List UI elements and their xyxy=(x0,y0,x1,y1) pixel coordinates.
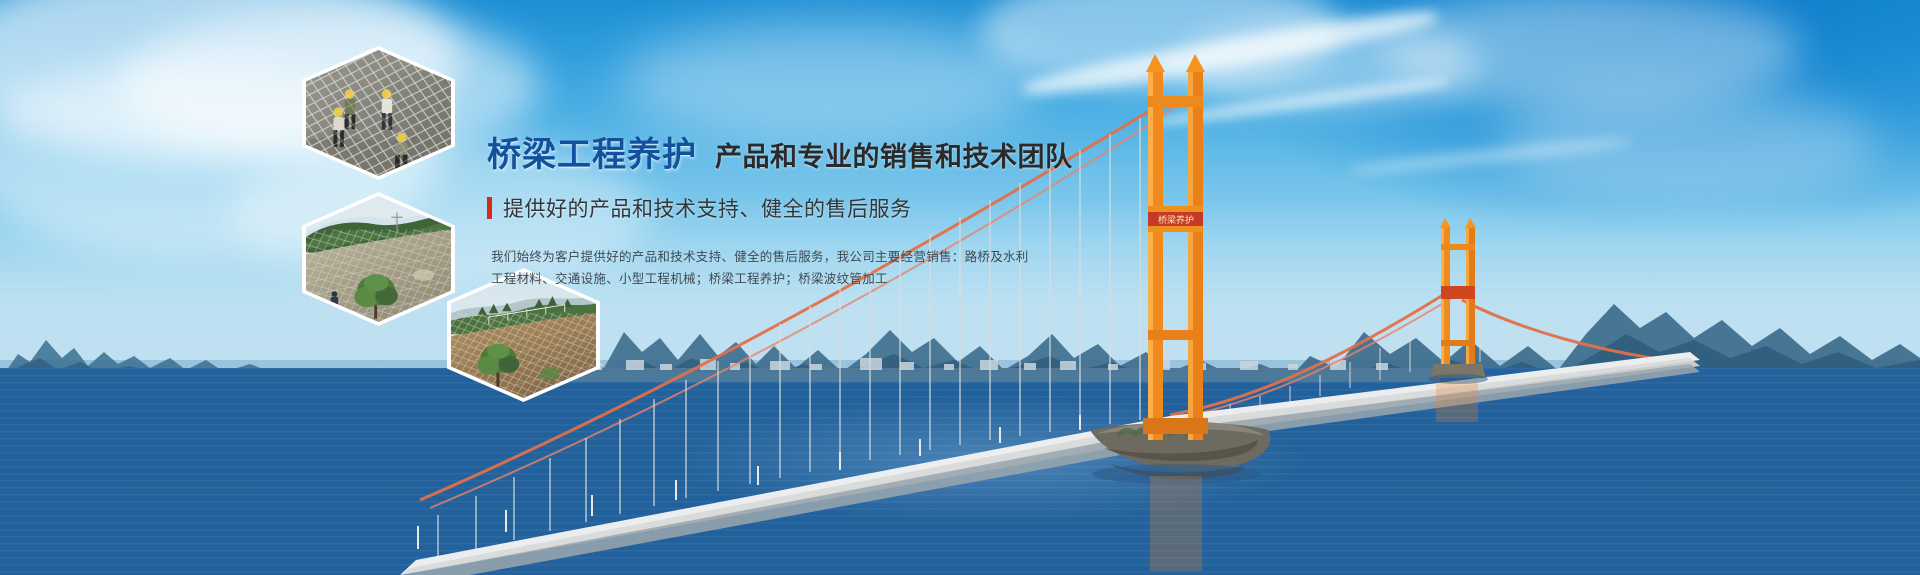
subheadline-text: 提供好的产品和技术支持、健全的售后服务 xyxy=(503,193,912,223)
headline-secondary: 产品和专业的销售和技术团队 xyxy=(715,135,1073,174)
rockfall-netting-image xyxy=(306,50,451,176)
headline-primary: 桥梁工程养护 xyxy=(487,127,697,176)
slope-protection-image xyxy=(306,196,451,322)
accent-bar xyxy=(487,197,492,219)
hero-banner: 桥梁养护 xyxy=(0,0,1920,575)
body-line-1: 我们始终为客户提供好的产品和技术支持、健全的售后服务，我公司主要经营销售：路桥及… xyxy=(491,246,921,268)
slope-greening-image xyxy=(451,272,596,398)
bridge-main-tower: 桥梁养护 xyxy=(1143,54,1208,440)
body-line-2: 工程材料、交通设施、小型工程机械；桥梁工程养护；桥梁波纹管加工 xyxy=(491,268,921,290)
subheadline-row: 提供好的产品和技术支持、健全的售后服务 xyxy=(487,193,1107,223)
bridge-secondary-tower xyxy=(1428,218,1488,384)
body-paragraph: 我们始终为客户提供好的产品和技术支持、健全的售后服务，我公司主要经营销售：路桥及… xyxy=(491,246,921,290)
tower-banner-text: 桥梁养护 xyxy=(1158,214,1194,225)
hex-photo-rockfall-netting[interactable] xyxy=(302,46,455,180)
headline: 桥梁工程养护 产品和专业的销售和技术团队 xyxy=(487,127,1107,176)
hex-photo-slope-protection[interactable] xyxy=(302,192,455,326)
banner-text-block: 桥梁工程养护 产品和专业的销售和技术团队 提供好的产品和技术支持、健全的售后服务… xyxy=(487,127,1107,290)
